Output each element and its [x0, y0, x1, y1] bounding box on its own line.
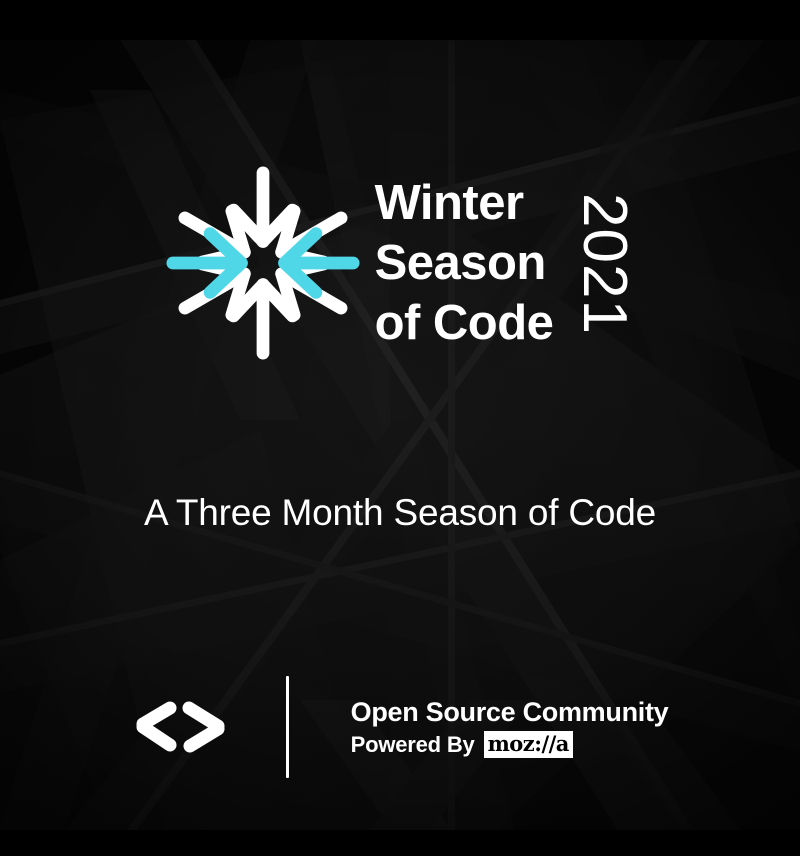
snowflake-icon [165, 165, 361, 361]
poster-content: Winter Season of Code 2021 A Three Month… [0, 0, 800, 856]
footer-divider [286, 676, 289, 778]
powered-by-label: Powered By [351, 732, 475, 758]
footer-title: Open Source Community [351, 696, 669, 728]
footer-text-block: Open Source Community Powered By moz://a [351, 696, 669, 758]
logo-wordmark-line-2: Season [375, 233, 554, 293]
code-brackets-icon [132, 699, 230, 755]
footer-powered-row: Powered By moz://a [351, 731, 573, 758]
logo-wordmark-line-1: Winter [375, 173, 554, 233]
logo-wordmark-line-3: of Code [375, 293, 554, 353]
poster-canvas: Winter Season of Code 2021 A Three Month… [0, 0, 800, 856]
logo-year: 2021 [573, 177, 635, 351]
logo-wordmark: Winter Season of Code [375, 173, 554, 353]
mozilla-wordmark: moz://a [484, 731, 573, 758]
footer: Open Source Community Powered By moz://a [0, 672, 800, 782]
logo-year-text: 2021 [573, 193, 635, 335]
logo-lockup: Winter Season of Code 2021 [0, 163, 800, 361]
tagline: A Three Month Season of Code [0, 492, 800, 534]
